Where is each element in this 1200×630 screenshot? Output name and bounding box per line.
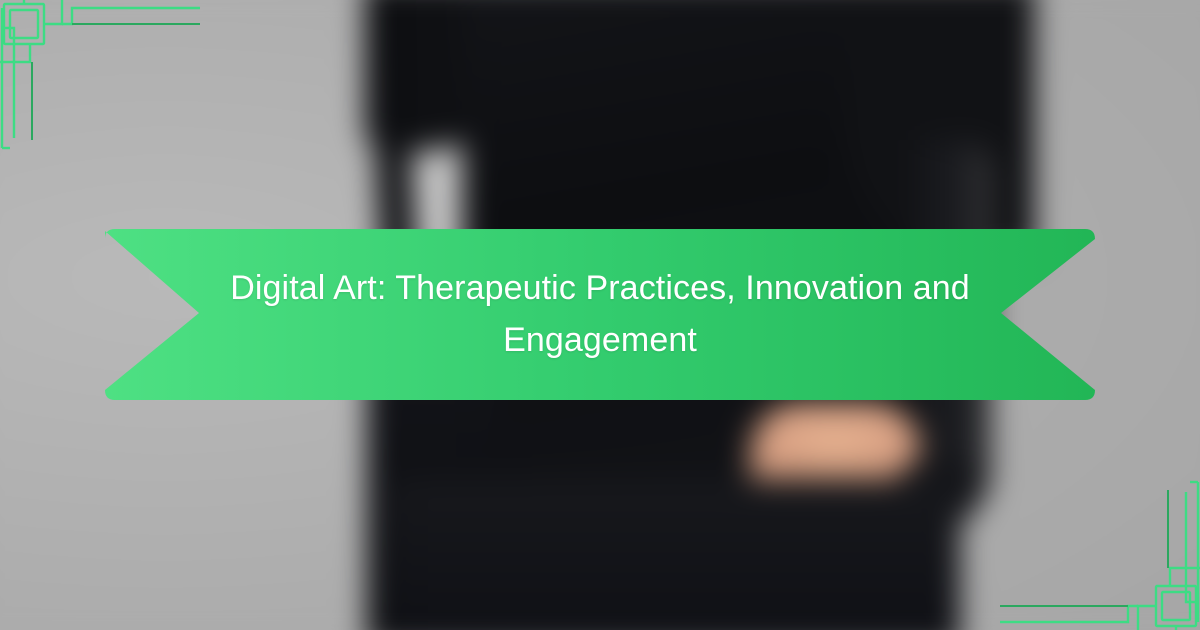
ribbon-text-area: Digital Art: Therapeutic Practices, Inno… [103, 225, 1097, 404]
title-line-1: Digital Art: Therapeutic Practices, Inno… [230, 269, 903, 307]
title-ribbon: Digital Art: Therapeutic Practices, Inno… [103, 225, 1097, 404]
photo-bag-body [388, 479, 960, 630]
page-title: Digital Art: Therapeutic Practices, Inno… [223, 263, 977, 366]
banner-canvas: Digital Art: Therapeutic Practices, Inno… [0, 0, 1200, 630]
